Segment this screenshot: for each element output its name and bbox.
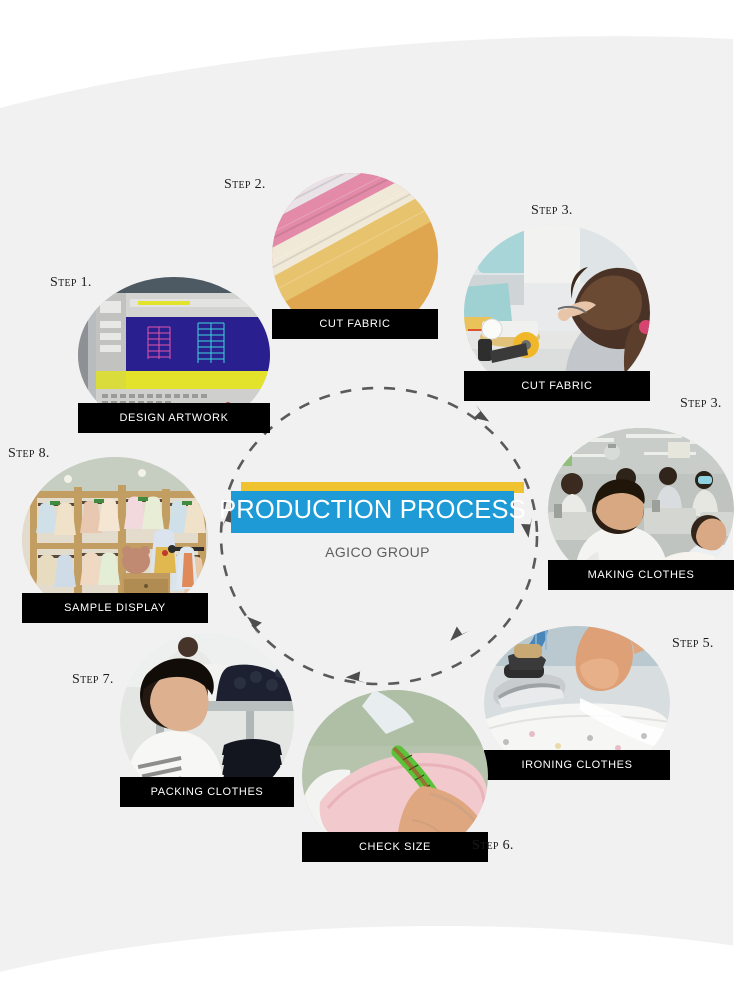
step-node-3[interactable]: CUT FABRIC	[464, 225, 650, 401]
step-node-1[interactable]: DESIGN ARTWORK	[78, 277, 270, 433]
step-node-8[interactable]: SAMPLE DISPLAY	[22, 457, 208, 623]
step-caption: DESIGN ARTWORK	[78, 403, 270, 433]
page-title: PRODUCTION PROCESS	[219, 498, 526, 524]
step-number-4: Step 3.	[680, 396, 722, 412]
step-node-2[interactable]: CUT FABRIC	[272, 173, 438, 339]
step-node-7[interactable]: PACKING CLOTHES	[120, 633, 294, 807]
title-banner: PRODUCTION PROCESS	[231, 491, 514, 533]
step-caption: CHECK SIZE	[302, 832, 488, 862]
step-caption: MAKING CLOTHES	[548, 560, 734, 590]
company-name: AGICO GROUP	[231, 544, 524, 560]
step-caption: SAMPLE DISPLAY	[22, 593, 208, 623]
step-caption: IRONING CLOTHES	[484, 750, 670, 780]
step-number-7: Step 7.	[72, 672, 114, 688]
step-number-1: Step 1.	[50, 275, 92, 291]
step-node-4[interactable]: MAKING CLOTHES	[548, 428, 734, 590]
step-node-5[interactable]: IRONING CLOTHES	[484, 626, 670, 780]
step-caption: CUT FABRIC	[272, 309, 438, 339]
step-number-8: Step 8.	[8, 446, 50, 462]
step-caption: PACKING CLOTHES	[120, 777, 294, 807]
step-number-5: Step 5.	[672, 636, 714, 652]
step-caption: CUT FABRIC	[464, 371, 650, 401]
step-number-3: Step 3.	[531, 203, 573, 219]
production-process-infographic: DESIGN ARTWORK Step 1.	[0, 0, 750, 985]
step-number-2: Step 2.	[224, 177, 266, 193]
step-number-6: Step 6.	[472, 838, 514, 854]
step-node-6[interactable]: CHECK SIZE	[302, 690, 488, 862]
